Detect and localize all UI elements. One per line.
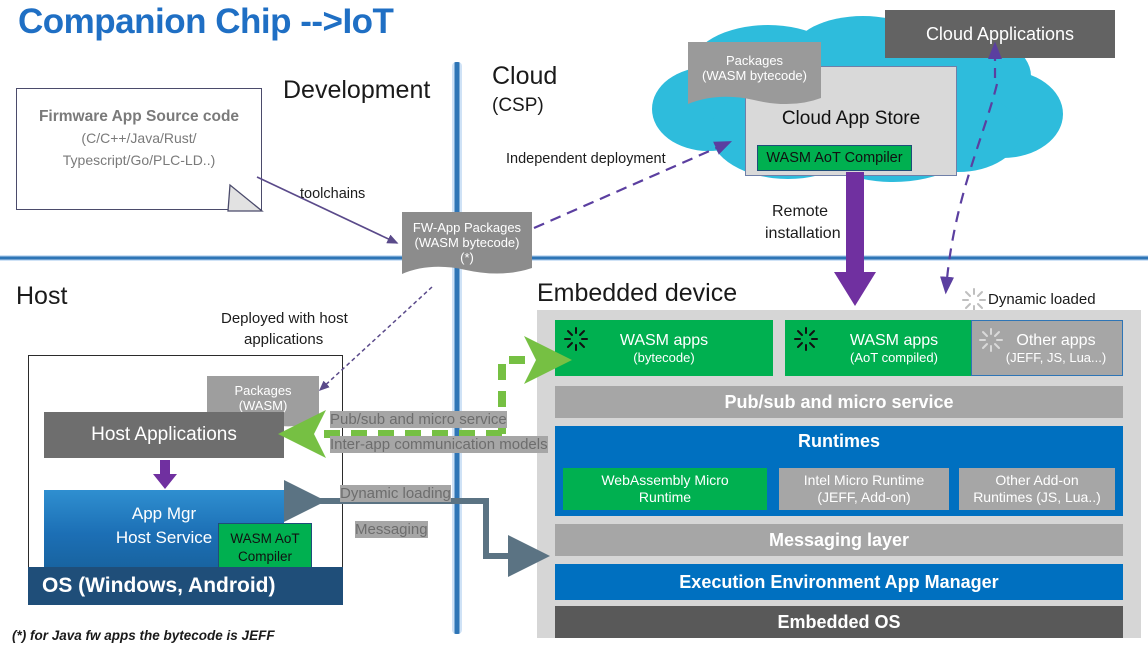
fw-tag-line-1: FW-App Packages [402,220,532,235]
runtime-line-2: Runtimes (JS, Lua..) [973,489,1101,507]
cloud-tag-line-1: Packages [688,53,821,68]
runtime-other-addon: Other Add-on Runtimes (JS, Lua..) [959,468,1115,510]
source-line-2: Typescript/Go/PLC-LD..) [17,150,261,170]
embedded-app-wasm-bytecode: WASM apps (bytecode) [555,320,773,376]
app-name: Other apps [1006,332,1106,350]
slide-canvas: Companion Chip -->IoT Development Cloud … [0,0,1148,653]
runtime-line-2: (JEFF, Add-on) [804,489,925,507]
host-os-bar: OS (Windows, Android) [28,567,343,605]
pubsub-green-connector [280,338,560,448]
app-name: WASM apps [620,332,708,350]
firmware-source-box: Firmware App Source code (C/C++/Java/Rus… [16,88,262,210]
zone-label-cloud-sub: (CSP) [492,95,544,117]
host-applications-box: Host Applications [44,412,284,458]
cloud-apps-up-arrow [980,40,1010,80]
fw-tag-line-3: (*) [402,250,532,265]
embedded-device-panel: WASM apps (bytecode) WASM apps (AoT comp… [537,310,1141,638]
runtime-line-1: Other Add-on [973,472,1101,490]
app-sub: (AoT compiled) [850,350,938,365]
label-independent-deployment: Independent deployment [506,151,666,167]
dynamic-loaded-icon [795,328,817,350]
fw-packages-tag: FW-App Packages (WASM bytecode) (*) [402,220,532,265]
runtime-line-1: WebAssembly Micro [601,472,728,490]
app-sub: (bytecode) [620,350,708,365]
independent-deployment-arrow [530,128,745,233]
embedded-os: Embedded OS [555,606,1123,638]
legend-dynamic-loaded: Dynamic loaded [988,291,1096,308]
host-flow-arrow [152,460,178,490]
embedded-messaging-layer: Messaging layer [555,524,1123,556]
app-name: WASM apps [850,332,938,350]
label-pubsub: Pub/sub and micro service [330,411,507,428]
dynamic-loaded-icon [980,329,1002,351]
label-toolchains: toolchains [300,186,365,202]
dynamic-load-dashed-arrow [925,80,1015,310]
zone-label-cloud: Cloud [492,62,557,91]
embedded-runtimes-container: Runtimes WebAssembly Micro Runtime Intel… [555,426,1123,516]
cloud-aot-compiler-label: WASM AoT Compiler [766,150,902,166]
zone-label-development: Development [283,76,430,105]
cloud-aot-compiler-box: WASM AoT Compiler [757,145,912,171]
source-line-1: (C/C++/Java/Rust/ [17,128,261,148]
cloud-packages-tag: Packages (WASM bytecode) [688,53,821,83]
label-remote-installation-1: Remote [772,203,828,221]
source-heading: Firmware App Source code [17,108,261,126]
page-title: Companion Chip -->IoT [18,2,393,42]
runtime-line-2: Runtime [601,489,728,507]
zone-label-host: Host [16,282,67,311]
cloud-tag-line-2: (WASM bytecode) [688,68,821,83]
runtime-intel-micro: Intel Micro Runtime (JEFF, Add-on) [779,468,949,510]
app-sub: (JEFF, JS, Lua...) [1006,350,1106,365]
label-messaging: Messaging [355,521,428,538]
fw-tag-line-2: (WASM bytecode) [402,235,532,250]
footnote: (*) for Java fw apps the bytecode is JEF… [12,628,275,643]
dynamic-loaded-icon [962,288,986,312]
label-dynamic-loading: Dynamic loading [340,485,451,502]
embedded-runtimes-title: Runtimes [555,426,1123,452]
label-interapp: Inter-app communication models [330,436,548,453]
embedded-pubsub-layer: Pub/sub and micro service [555,386,1123,418]
runtime-wasm-micro: WebAssembly Micro Runtime [563,468,767,510]
zone-label-embedded: Embedded device [537,279,737,308]
label-remote-installation-2: installation [765,225,841,243]
dynamic-loaded-icon [565,328,587,350]
embedded-app-manager: Execution Environment App Manager [555,564,1123,600]
embedded-app-other: Other apps (JEFF, JS, Lua...) [971,320,1123,376]
runtime-line-1: Intel Micro Runtime [804,472,925,490]
